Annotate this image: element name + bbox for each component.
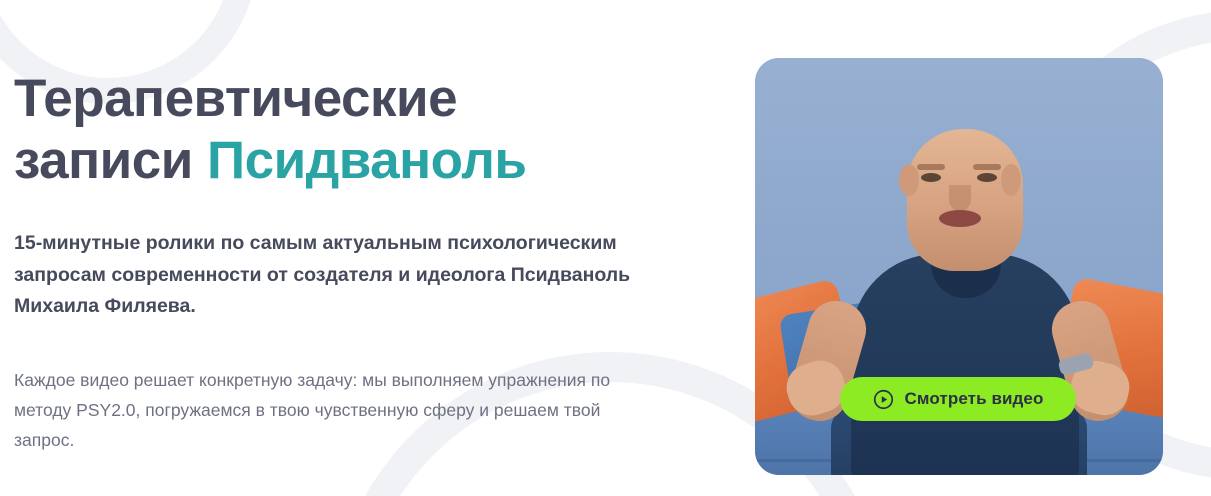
presenter-eye-left bbox=[921, 173, 941, 182]
hero-subheadline: 15-минутные ролики по самым актуальным п… bbox=[14, 228, 704, 323]
page-title: Терапевтические записи Псидваноль bbox=[14, 68, 674, 192]
hero-text-column: Терапевтические записи Псидваноль 15-мин… bbox=[14, 0, 734, 496]
headline-line-1: Терапевтические bbox=[14, 69, 457, 128]
presenter-eye-right bbox=[977, 173, 997, 182]
presenter-brow-left bbox=[917, 164, 945, 170]
headline-line-2: записи bbox=[14, 131, 207, 190]
headline-accent-word: Псидваноль bbox=[207, 131, 526, 190]
presenter-nose bbox=[949, 185, 971, 211]
watch-video-button-label: Смотреть видео bbox=[905, 389, 1044, 409]
hero-body-text: Каждое видео решает конкретную задачу: м… bbox=[14, 365, 634, 455]
watch-video-button[interactable]: Смотреть видео bbox=[840, 377, 1076, 421]
hero-section: Терапевтические записи Псидваноль 15-мин… bbox=[0, 0, 1211, 496]
presenter-brow-right bbox=[973, 164, 1001, 170]
play-circle-icon bbox=[873, 389, 894, 410]
video-preview-card[interactable]: Смотреть видео bbox=[755, 58, 1163, 475]
